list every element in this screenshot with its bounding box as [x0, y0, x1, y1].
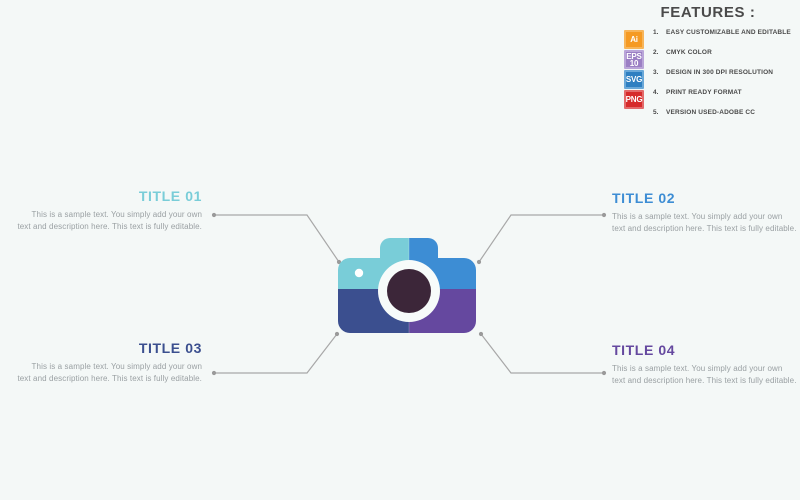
badge-label-svg: SVG	[626, 76, 642, 83]
connector-endpoint-dot	[212, 371, 216, 375]
format-badge-column: Ai EPS 10 SVG PNG	[624, 29, 646, 109]
feature-item-number: 4.	[653, 89, 666, 96]
text-block-title-02: TITLE 02 This is a sample text. You simp…	[612, 190, 798, 234]
block-body-01: This is a sample text. You simply add yo…	[16, 209, 202, 232]
feature-item-number: 5.	[653, 109, 666, 116]
png-badge: PNG	[624, 90, 644, 109]
feature-item-label: VERSION USED-ADOBE CC	[666, 109, 755, 116]
feature-item-label: CMYK COLOR	[666, 49, 712, 56]
infographic-canvas: TITLE 01 This is a sample text. You simp…	[0, 0, 800, 500]
block-body-02: This is a sample text. You simply add yo…	[612, 211, 798, 234]
eps10-badge: EPS 10	[624, 50, 644, 69]
block-title-02: TITLE 02	[612, 190, 798, 206]
block-body-03: This is a sample text. You simply add yo…	[16, 361, 202, 384]
camera-flash-dot	[355, 269, 363, 277]
connector-title-01	[212, 213, 341, 264]
connector-endpoint-dot	[602, 371, 606, 375]
connector-title-02	[477, 213, 606, 264]
feature-item-number: 1.	[653, 29, 666, 36]
feature-item-label: EASY CUSTOMIZABLE AND EDITABLE	[666, 29, 791, 36]
badge-label-png: PNG	[626, 96, 643, 103]
feature-list-item: 5. VERSION USED-ADOBE CC	[653, 109, 796, 129]
text-block-title-03: TITLE 03 This is a sample text. You simp…	[16, 340, 202, 384]
connector-title-04	[479, 332, 606, 375]
camera-icon	[336, 230, 482, 345]
feature-list-item: 1. EASY CUSTOMIZABLE AND EDITABLE	[653, 29, 796, 49]
feature-item-number: 2.	[653, 49, 666, 56]
block-title-01: TITLE 01	[16, 188, 202, 204]
block-body-04: This is a sample text. You simply add yo…	[612, 363, 798, 386]
feature-item-number: 3.	[653, 69, 666, 76]
connector-title-03	[212, 332, 339, 375]
illustrator-ai-badge: Ai	[624, 30, 644, 49]
text-block-title-01: TITLE 01 This is a sample text. You simp…	[16, 188, 202, 232]
feature-item-label: DESIGN IN 300 DPI RESOLUTION	[666, 69, 773, 76]
features-list: 1. EASY CUSTOMIZABLE AND EDITABLE 2. CMY…	[646, 29, 796, 129]
features-panel: FEATURES : Ai EPS 10 SVG PNG	[624, 4, 796, 132]
svg-badge: SVG	[624, 70, 644, 89]
block-title-04: TITLE 04	[612, 342, 798, 358]
feature-list-item: 4. PRINT READY FORMAT	[653, 89, 796, 109]
feature-list-item: 2. CMYK COLOR	[653, 49, 796, 69]
text-block-title-04: TITLE 04 This is a sample text. You simp…	[612, 342, 798, 386]
features-heading: FEATURES :	[624, 4, 796, 21]
block-title-03: TITLE 03	[16, 340, 202, 356]
feature-item-label: PRINT READY FORMAT	[666, 89, 742, 96]
connector-endpoint-dot	[212, 213, 216, 217]
camera-lens-center	[387, 269, 431, 313]
feature-list-item: 3. DESIGN IN 300 DPI RESOLUTION	[653, 69, 796, 89]
connector-endpoint-dot	[602, 213, 606, 217]
badge-label-eps-version: 10	[626, 60, 641, 67]
badge-label-ai: Ai	[630, 36, 638, 43]
